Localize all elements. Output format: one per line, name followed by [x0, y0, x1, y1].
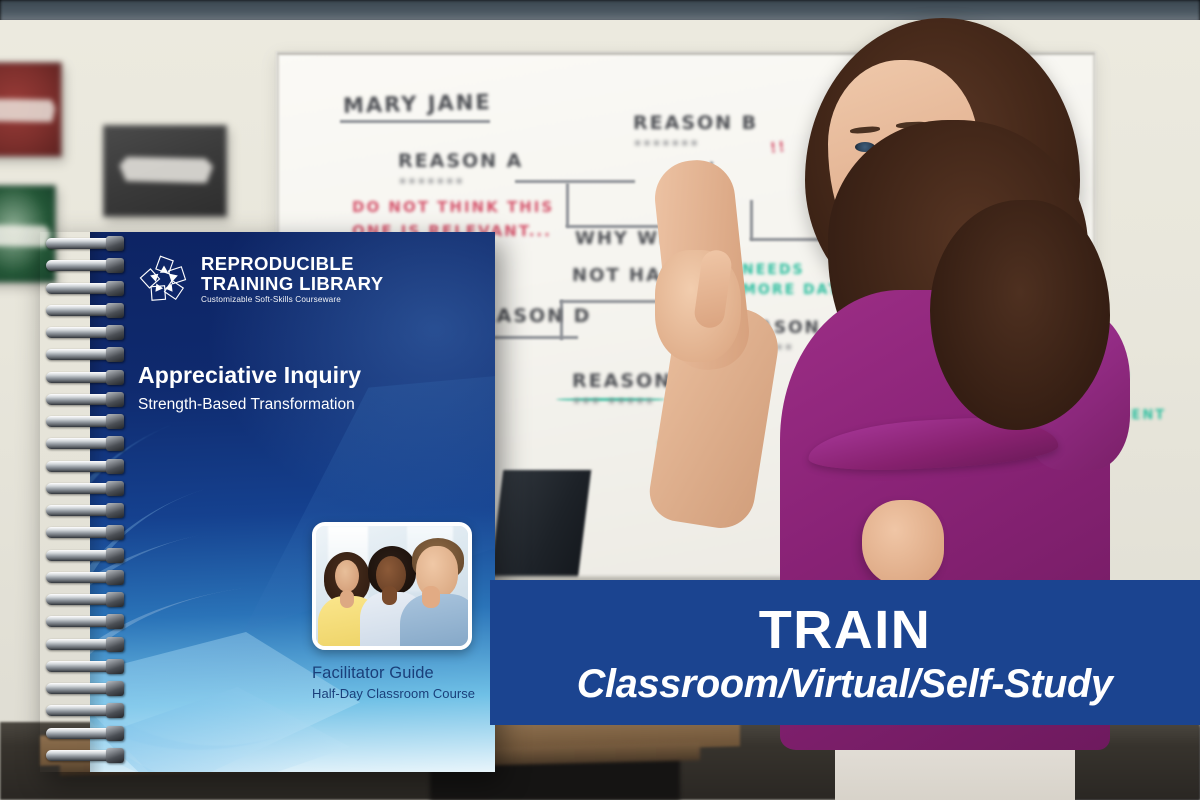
cover-footer-subtitle: Half-Day Classroom Course: [312, 686, 475, 701]
whiteboard-note: MARY JANE: [343, 90, 492, 118]
cover-footer: Facilitator Guide Half-Day Classroom Cou…: [312, 664, 475, 701]
whiteboard-note: DO NOT THINK THIS: [352, 198, 554, 216]
thumb-person-hand: [340, 590, 354, 608]
underline: [340, 120, 490, 123]
framed-poster-red: [0, 62, 62, 157]
spiral-coil: [46, 750, 120, 761]
banner-content: TRAIN Classroom/Virtual/Self-Study: [490, 580, 1200, 725]
banner-headline: TRAIN: [759, 603, 931, 657]
thumb-person-hand: [422, 586, 440, 608]
diagram-line: [488, 336, 578, 339]
logo-line-2: TRAINING LIBRARY: [201, 275, 383, 294]
computer-monitor: [489, 470, 591, 588]
thumb-person-hand: [382, 586, 397, 605]
framed-poster-grayscale: [103, 125, 227, 217]
cover-thumbnail-photo: [312, 522, 472, 650]
spiral-coil: [46, 305, 120, 316]
rtl-logo: REPRODUCIBLE TRAINING LIBRARY Customizab…: [138, 254, 383, 306]
spiral-coil: [46, 327, 120, 338]
logo-line-1: REPRODUCIBLE: [201, 255, 383, 274]
spiral-coil: [46, 572, 120, 583]
spiral-coil: [46, 550, 120, 561]
train-banner: TRAIN Classroom/Virtual/Self-Study: [490, 580, 1200, 725]
facilitator-guide-book: REPRODUCIBLE TRAINING LIBRARY Customizab…: [40, 232, 495, 772]
spiral-coil: [46, 616, 120, 627]
spiral-coil: [46, 483, 120, 494]
book-title-block: Appreciative Inquiry Strength-Based Tran…: [138, 362, 361, 414]
spiral-coil: [46, 594, 120, 605]
spiral-coil: [46, 527, 120, 538]
spiral-coil: [46, 416, 120, 427]
logo-tagline: Customizable Soft-Skills Courseware: [201, 296, 383, 304]
spiral-coil: [46, 705, 120, 716]
diagram-line: [566, 183, 569, 227]
thumb-person-face: [335, 560, 359, 592]
spiral-coil: [46, 438, 120, 449]
spiral-coil: [46, 283, 120, 294]
spiral-coil: [46, 661, 120, 672]
spiral-coil: [46, 505, 120, 516]
spiral-wire-binding: [46, 236, 124, 770]
spiral-coil: [46, 238, 120, 249]
hero-image: MARY JANE REASON A ▪▪▪▪▪▪▪ REASON B ▪▪▪▪…: [0, 0, 1200, 800]
book-title: Appreciative Inquiry: [138, 362, 361, 389]
book-cover: REPRODUCIBLE TRAINING LIBRARY Customizab…: [90, 232, 495, 772]
banner-subhead: Classroom/Virtual/Self-Study: [577, 663, 1113, 705]
logo-text: REPRODUCIBLE TRAINING LIBRARY Customizab…: [201, 255, 383, 304]
spiral-coil: [46, 260, 120, 271]
spiral-coil: [46, 461, 120, 472]
pinwheel-rosette-logo-icon: [138, 254, 190, 306]
spiral-coil: [46, 639, 120, 650]
whiteboard-note: REASON A: [398, 150, 523, 172]
spiral-coil: [46, 372, 120, 383]
spiral-coil: [46, 349, 120, 360]
spiral-coil: [46, 394, 120, 405]
book-subtitle: Strength-Based Transformation: [138, 396, 361, 414]
cover-footer-title: Facilitator Guide: [312, 664, 475, 683]
whiteboard-scribble: ▪▪▪▪▪▪▪: [400, 176, 466, 185]
spiral-coil: [46, 683, 120, 694]
spiral-coil: [46, 728, 120, 739]
